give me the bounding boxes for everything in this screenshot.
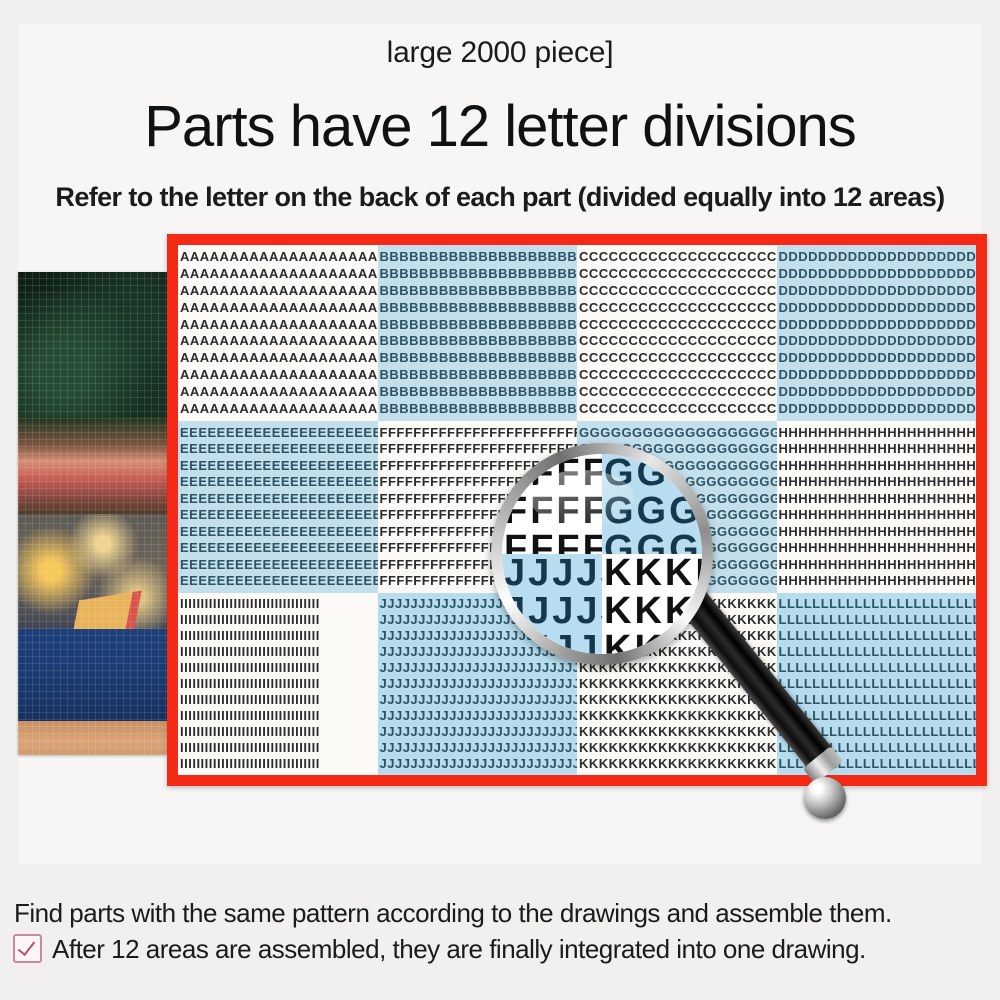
letter-row: IIIIIIIIIIIIIIIIIIIIIIIIIIIIIIIIII bbox=[178, 741, 378, 754]
letter-row: CCCCCCCCCCCCCCCCCCCCCCCC bbox=[577, 385, 777, 398]
letter-row: EEEEEEEEEEEEEEEEEEEEEEEEEE bbox=[178, 558, 378, 571]
letter-row: GGGGGGGGGGGGGGGGGGGGGGGG bbox=[577, 426, 777, 439]
letter-row: HHHHHHHHHHHHHHHHHHHHHHHH bbox=[777, 459, 977, 472]
letter-row: KKKKKKKKKKKKKKKKKKKKKKKK bbox=[577, 741, 777, 754]
letter-row: BBBBBBBBBBBBBBBBBBBBBBBB bbox=[378, 368, 578, 381]
letter-row: HHHHHHHHHHHHHHHHHHHHHHHH bbox=[777, 525, 977, 538]
letter-division-chart: AAAAAAAAAAAAAAAAAAAAAAAAAAAAAAAAAAAAAAAA… bbox=[167, 234, 987, 786]
letter-row: CCCCCCCCCCCCCCCCCCCCCCCC bbox=[577, 351, 777, 364]
letter-row: DDDDDDDDDDDDDDDDDDDDDDDD bbox=[777, 284, 977, 297]
letter-cell-c: CCCCCCCCCCCCCCCCCCCCCCCCCCCCCCCCCCCCCCCC… bbox=[577, 245, 777, 421]
letter-row: BBBBBBBBBBBBBBBBBBBBBBBB bbox=[378, 334, 578, 347]
letter-row: DDDDDDDDDDDDDDDDDDDDDDDD bbox=[777, 301, 977, 314]
letter-cell-h: HHHHHHHHHHHHHHHHHHHHHHHHHHHHHHHHHHHHHHHH… bbox=[777, 421, 977, 593]
letter-grid: AAAAAAAAAAAAAAAAAAAAAAAAAAAAAAAAAAAAAAAA… bbox=[178, 245, 976, 775]
letter-row: JJJJJJJJJJJJJJJJJJJJJJJJJJ bbox=[378, 661, 578, 674]
letter-row: LLLLLLLLLLLLLLLLLLLLLLLLLL bbox=[777, 645, 977, 658]
puzzle-photo bbox=[18, 272, 167, 755]
letter-row: BBBBBBBBBBBBBBBBBBBBBBBB bbox=[378, 318, 578, 331]
letter-row: KKKKKKKKKKKKKKKKKKKKKKKK bbox=[577, 613, 777, 626]
letter-row: GGGGGGGGGGGGGGGGGGGGGGGG bbox=[577, 475, 777, 488]
letter-row: IIIIIIIIIIIIIIIIIIIIIIIIIIIIIIIIII bbox=[178, 629, 378, 642]
letter-row: CCCCCCCCCCCCCCCCCCCCCCCC bbox=[577, 334, 777, 347]
letter-row: AAAAAAAAAAAAAAAAAAAAAAAA bbox=[178, 385, 378, 398]
footer-line-1: Find parts with the same pattern accordi… bbox=[14, 898, 1000, 929]
letter-row: FFFFFFFFFFFFFFFFFFFFFFFFFFFF bbox=[378, 574, 578, 587]
letter-row: JJJJJJJJJJJJJJJJJJJJJJJJJJ bbox=[378, 613, 578, 626]
letter-row: IIIIIIIIIIIIIIIIIIIIIIIIIIIIIIIIII bbox=[178, 597, 378, 610]
letter-cell-e: EEEEEEEEEEEEEEEEEEEEEEEEEEEEEEEEEEEEEEEE… bbox=[178, 421, 378, 593]
letter-row: JJJJJJJJJJJJJJJJJJJJJJJJJJ bbox=[378, 677, 578, 690]
letter-row: AAAAAAAAAAAAAAAAAAAAAAAA bbox=[178, 318, 378, 331]
letter-row: HHHHHHHHHHHHHHHHHHHHHHHH bbox=[777, 426, 977, 439]
letter-row: AAAAAAAAAAAAAAAAAAAAAAAA bbox=[178, 351, 378, 364]
letter-row: KKKKKKKKKKKKKKKKKKKKKKKK bbox=[577, 629, 777, 642]
letter-row: EEEEEEEEEEEEEEEEEEEEEEEEEE bbox=[178, 525, 378, 538]
letter-row: IIIIIIIIIIIIIIIIIIIIIIIIIIIIIIIIII bbox=[178, 661, 378, 674]
letter-row: CCCCCCCCCCCCCCCCCCCCCCCC bbox=[577, 267, 777, 280]
letter-row: CCCCCCCCCCCCCCCCCCCCCCCC bbox=[577, 284, 777, 297]
letter-row: AAAAAAAAAAAAAAAAAAAAAAAA bbox=[178, 402, 378, 415]
letter-row: BBBBBBBBBBBBBBBBBBBBBBBB bbox=[378, 402, 578, 415]
letter-row: GGGGGGGGGGGGGGGGGGGGGGGG bbox=[577, 541, 777, 554]
letter-row: IIIIIIIIIIIIIIIIIIIIIIIIIIIIIIIIII bbox=[178, 725, 378, 738]
letter-row: LLLLLLLLLLLLLLLLLLLLLLLLLL bbox=[777, 613, 977, 626]
letter-cell-b: BBBBBBBBBBBBBBBBBBBBBBBBBBBBBBBBBBBBBBBB… bbox=[378, 245, 578, 421]
letter-row: JJJJJJJJJJJJJJJJJJJJJJJJJJ bbox=[378, 725, 578, 738]
letter-row: AAAAAAAAAAAAAAAAAAAAAAAA bbox=[178, 267, 378, 280]
letter-row: IIIIIIIIIIIIIIIIIIIIIIIIIIIIIIIIII bbox=[178, 645, 378, 658]
letter-row: GGGGGGGGGGGGGGGGGGGGGGGG bbox=[577, 525, 777, 538]
letter-row: LLLLLLLLLLLLLLLLLLLLLLLLLL bbox=[777, 741, 977, 754]
letter-row: AAAAAAAAAAAAAAAAAAAAAAAA bbox=[178, 250, 378, 263]
letter-row: JJJJJJJJJJJJJJJJJJJJJJJJJJ bbox=[378, 709, 578, 722]
letter-row: KKKKKKKKKKKKKKKKKKKKKKKK bbox=[577, 677, 777, 690]
letter-row: EEEEEEEEEEEEEEEEEEEEEEEEEE bbox=[178, 541, 378, 554]
letter-row: IIIIIIIIIIIIIIIIIIIIIIIIIIIIIIIIII bbox=[178, 757, 378, 770]
subtitle-piece-count: large 2000 piece] bbox=[0, 36, 1000, 70]
letter-cell-d: DDDDDDDDDDDDDDDDDDDDDDDDDDDDDDDDDDDDDDDD… bbox=[777, 245, 977, 421]
letter-row: FFFFFFFFFFFFFFFFFFFFFFFFFFFF bbox=[378, 475, 578, 488]
letter-row: DDDDDDDDDDDDDDDDDDDDDDDD bbox=[777, 351, 977, 364]
letter-row: IIIIIIIIIIIIIIIIIIIIIIIIIIIIIIIIII bbox=[178, 709, 378, 722]
letter-row: HHHHHHHHHHHHHHHHHHHHHHHH bbox=[777, 475, 977, 488]
letter-row: EEEEEEEEEEEEEEEEEEEEEEEEEE bbox=[178, 508, 378, 521]
letter-row: HHHHHHHHHHHHHHHHHHHHHHHH bbox=[777, 492, 977, 505]
letter-row: BBBBBBBBBBBBBBBBBBBBBBBB bbox=[378, 301, 578, 314]
letter-row: BBBBBBBBBBBBBBBBBBBBBBBB bbox=[378, 267, 578, 280]
letter-row: FFFFFFFFFFFFFFFFFFFFFFFFFFFF bbox=[378, 525, 578, 538]
letter-row: LLLLLLLLLLLLLLLLLLLLLLLLLL bbox=[777, 709, 977, 722]
footer-line-2: After 12 areas are assembled, they are f… bbox=[52, 934, 1000, 965]
letter-cell-k: KKKKKKKKKKKKKKKKKKKKKKKKKKKKKKKKKKKKKKKK… bbox=[577, 593, 777, 775]
letter-row: KKKKKKKKKKKKKKKKKKKKKKKK bbox=[577, 597, 777, 610]
letter-row: DDDDDDDDDDDDDDDDDDDDDDDD bbox=[777, 318, 977, 331]
letter-row: JJJJJJJJJJJJJJJJJJJJJJJJJJ bbox=[378, 645, 578, 658]
letter-row: LLLLLLLLLLLLLLLLLLLLLLLLLL bbox=[777, 725, 977, 738]
letter-row: GGGGGGGGGGGGGGGGGGGGGGGG bbox=[577, 574, 777, 587]
letter-row: FFFFFFFFFFFFFFFFFFFFFFFFFFFF bbox=[378, 442, 578, 455]
letter-row: EEEEEEEEEEEEEEEEEEEEEEEEEE bbox=[178, 459, 378, 472]
letter-row: BBBBBBBBBBBBBBBBBBBBBBBB bbox=[378, 284, 578, 297]
letter-row: HHHHHHHHHHHHHHHHHHHHHHHH bbox=[777, 442, 977, 455]
letter-row: FFFFFFFFFFFFFFFFFFFFFFFFFFFF bbox=[378, 492, 578, 505]
letter-row: GGGGGGGGGGGGGGGGGGGGGGGG bbox=[577, 558, 777, 571]
letter-cell-a: AAAAAAAAAAAAAAAAAAAAAAAAAAAAAAAAAAAAAAAA… bbox=[178, 245, 378, 421]
letter-row: HHHHHHHHHHHHHHHHHHHHHHHH bbox=[777, 508, 977, 521]
letter-row: DDDDDDDDDDDDDDDDDDDDDDDD bbox=[777, 267, 977, 280]
letter-row: FFFFFFFFFFFFFFFFFFFFFFFFFFFF bbox=[378, 558, 578, 571]
letter-row: AAAAAAAAAAAAAAAAAAAAAAAA bbox=[178, 284, 378, 297]
letter-row: LLLLLLLLLLLLLLLLLLLLLLLLLL bbox=[777, 629, 977, 642]
letter-row: DDDDDDDDDDDDDDDDDDDDDDDD bbox=[777, 368, 977, 381]
letter-row: DDDDDDDDDDDDDDDDDDDDDDDD bbox=[777, 385, 977, 398]
instruction-note: Refer to the letter on the back of each … bbox=[0, 182, 1000, 213]
letter-row: CCCCCCCCCCCCCCCCCCCCCCCC bbox=[577, 250, 777, 263]
letter-row: EEEEEEEEEEEEEEEEEEEEEEEEEE bbox=[178, 475, 378, 488]
letter-row: CCCCCCCCCCCCCCCCCCCCCCCC bbox=[577, 301, 777, 314]
letter-row: KKKKKKKKKKKKKKKKKKKKKKKK bbox=[577, 693, 777, 706]
letter-row: JJJJJJJJJJJJJJJJJJJJJJJJJJ bbox=[378, 741, 578, 754]
letter-row: KKKKKKKKKKKKKKKKKKKKKKKK bbox=[577, 709, 777, 722]
letter-row: AAAAAAAAAAAAAAAAAAAAAAAA bbox=[178, 334, 378, 347]
letter-row: DDDDDDDDDDDDDDDDDDDDDDDD bbox=[777, 250, 977, 263]
page-title: Parts have 12 letter divisions bbox=[0, 93, 1000, 160]
letter-row: IIIIIIIIIIIIIIIIIIIIIIIIIIIIIIIIII bbox=[178, 677, 378, 690]
letter-row: FFFFFFFFFFFFFFFFFFFFFFFFFFFF bbox=[378, 508, 578, 521]
letter-row: AAAAAAAAAAAAAAAAAAAAAAAA bbox=[178, 301, 378, 314]
letter-row: IIIIIIIIIIIIIIIIIIIIIIIIIIIIIIIIII bbox=[178, 693, 378, 706]
letter-row: CCCCCCCCCCCCCCCCCCCCCCCC bbox=[577, 318, 777, 331]
letter-row: JJJJJJJJJJJJJJJJJJJJJJJJJJ bbox=[378, 629, 578, 642]
letter-row: FFFFFFFFFFFFFFFFFFFFFFFFFFFF bbox=[378, 459, 578, 472]
letter-row: EEEEEEEEEEEEEEEEEEEEEEEEEE bbox=[178, 426, 378, 439]
letter-row: IIIIIIIIIIIIIIIIIIIIIIIIIIIIIIIIII bbox=[178, 613, 378, 626]
letter-row: HHHHHHHHHHHHHHHHHHHHHHHH bbox=[777, 574, 977, 587]
letter-row: JJJJJJJJJJJJJJJJJJJJJJJJJJ bbox=[378, 693, 578, 706]
letter-row: KKKKKKKKKKKKKKKKKKKKKKKK bbox=[577, 725, 777, 738]
letter-row: GGGGGGGGGGGGGGGGGGGGGGGG bbox=[577, 508, 777, 521]
letter-cell-f: FFFFFFFFFFFFFFFFFFFFFFFFFFFFFFFFFFFFFFFF… bbox=[378, 421, 578, 593]
page-root: large 2000 piece] Parts have 12 letter d… bbox=[0, 0, 1000, 1000]
letter-row: BBBBBBBBBBBBBBBBBBBBBBBB bbox=[378, 385, 578, 398]
letter-row: LLLLLLLLLLLLLLLLLLLLLLLLLL bbox=[777, 661, 977, 674]
letter-row: DDDDDDDDDDDDDDDDDDDDDDDD bbox=[777, 402, 977, 415]
letter-cell-l: LLLLLLLLLLLLLLLLLLLLLLLLLLLLLLLLLLLLLLLL… bbox=[777, 593, 977, 775]
letter-row: AAAAAAAAAAAAAAAAAAAAAAAA bbox=[178, 368, 378, 381]
letter-row: HHHHHHHHHHHHHHHHHHHHHHHH bbox=[777, 541, 977, 554]
letter-row: DDDDDDDDDDDDDDDDDDDDDDDD bbox=[777, 334, 977, 347]
letter-row: FFFFFFFFFFFFFFFFFFFFFFFFFFFF bbox=[378, 541, 578, 554]
letter-row: BBBBBBBBBBBBBBBBBBBBBBBB bbox=[378, 250, 578, 263]
checked-checkbox-icon bbox=[13, 934, 42, 963]
letter-row: EEEEEEEEEEEEEEEEEEEEEEEEEE bbox=[178, 442, 378, 455]
letter-row: HHHHHHHHHHHHHHHHHHHHHHHH bbox=[777, 558, 977, 571]
letter-row: LLLLLLLLLLLLLLLLLLLLLLLLLL bbox=[777, 597, 977, 610]
letter-row: JJJJJJJJJJJJJJJJJJJJJJJJJJ bbox=[378, 597, 578, 610]
photo-jigsaw-texture bbox=[18, 272, 167, 755]
letter-row: BBBBBBBBBBBBBBBBBBBBBBBB bbox=[378, 351, 578, 364]
letter-cell-j: JJJJJJJJJJJJJJJJJJJJJJJJJJJJJJJJJJJJJJJJ… bbox=[378, 593, 578, 775]
letter-row: CCCCCCCCCCCCCCCCCCCCCCCC bbox=[577, 402, 777, 415]
letter-row: LLLLLLLLLLLLLLLLLLLLLLLLLL bbox=[777, 757, 977, 770]
letter-row: KKKKKKKKKKKKKKKKKKKKKKKK bbox=[577, 661, 777, 674]
letter-row: JJJJJJJJJJJJJJJJJJJJJJJJJJ bbox=[378, 757, 578, 770]
letter-row: EEEEEEEEEEEEEEEEEEEEEEEEEE bbox=[178, 574, 378, 587]
letter-row: CCCCCCCCCCCCCCCCCCCCCCCC bbox=[577, 368, 777, 381]
letter-row: LLLLLLLLLLLLLLLLLLLLLLLLLL bbox=[777, 677, 977, 690]
letter-cell-i: IIIIIIIIIIIIIIIIIIIIIIIIIIIIIIIIIIIIIIII… bbox=[178, 593, 378, 775]
letter-row: GGGGGGGGGGGGGGGGGGGGGGGG bbox=[577, 442, 777, 455]
letter-row: GGGGGGGGGGGGGGGGGGGGGGGG bbox=[577, 492, 777, 505]
letter-row: EEEEEEEEEEEEEEEEEEEEEEEEEE bbox=[178, 492, 378, 505]
letter-row: GGGGGGGGGGGGGGGGGGGGGGGG bbox=[577, 459, 777, 472]
letter-cell-g: GGGGGGGGGGGGGGGGGGGGGGGGGGGGGGGGGGGGGGGG… bbox=[577, 421, 777, 593]
letter-row: KKKKKKKKKKKKKKKKKKKKKKKK bbox=[577, 645, 777, 658]
letter-row: LLLLLLLLLLLLLLLLLLLLLLLLLL bbox=[777, 693, 977, 706]
letter-row: KKKKKKKKKKKKKKKKKKKKKKKK bbox=[577, 757, 777, 770]
letter-row: FFFFFFFFFFFFFFFFFFFFFFFFFFFF bbox=[378, 426, 578, 439]
